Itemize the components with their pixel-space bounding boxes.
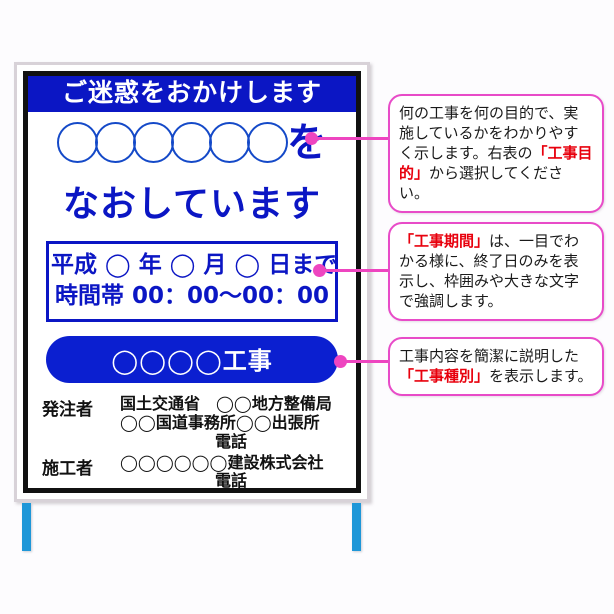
subject-circle xyxy=(95,122,136,163)
work-period-hours: 時間帯 00：00〜00：00 xyxy=(51,281,333,311)
party-value-line: ◯◯◯◯◯◯建設株式会社 xyxy=(120,454,342,473)
callout-text-segment: を表示します。 xyxy=(489,367,593,385)
construction-signboard: ご迷惑をおかけします を なおしています 平成 ◯ 年 ◯ 月 ◯ 日まで 時間… xyxy=(14,62,370,502)
party-values: ◯◯◯◯◯◯建設株式会社電話 xyxy=(120,454,342,492)
connector-line-worktype xyxy=(339,360,390,363)
connector-line-period xyxy=(318,269,390,272)
callout-work-type: 工事内容を簡潔に説明した「工事種別」を表示します。 xyxy=(388,337,604,396)
work-period-end-date: 平成 ◯ 年 ◯ 月 ◯ 日まで xyxy=(51,250,333,280)
sign-header-banner: ご迷惑をおかけします xyxy=(28,76,356,112)
party-row: 発注者国土交通省 ◯◯地方整備局◯◯国道事務所◯◯出張所電話 xyxy=(42,395,342,452)
subject-circle xyxy=(247,122,288,163)
callout-work-period-text: 「工事期間」は、一目でわかる様に、終了日のみを表示し、枠囲みや大きな文字で強調し… xyxy=(399,231,593,311)
party-label: 施工者 xyxy=(42,454,120,479)
callout-work-purpose-text: 何の工事を何の目的で、実施しているかをわかりやすく示します。右表の「工事目的」か… xyxy=(399,103,593,203)
subject-circle xyxy=(57,122,98,163)
party-label: 発注者 xyxy=(42,395,120,420)
party-value-line: ◯◯国道事務所◯◯出張所 xyxy=(120,414,342,433)
party-value-line: 国土交通省 ◯◯地方整備局 xyxy=(120,395,342,414)
work-type-pill: ◯◯◯◯工事 xyxy=(46,336,338,383)
action-text: なおしています xyxy=(28,175,356,227)
party-row: 施工者◯◯◯◯◯◯建設株式会社電話 xyxy=(42,454,342,492)
party-value-line: 電話 xyxy=(120,472,342,491)
callout-highlight-term: 「工事種別」 xyxy=(399,367,489,385)
parties-block: 発注者国土交通省 ◯◯地方整備局◯◯国道事務所◯◯出張所電話施工者◯◯◯◯◯◯建… xyxy=(42,395,342,493)
sign-leg-right xyxy=(352,503,361,551)
subject-circle xyxy=(209,122,250,163)
callout-work-period: 「工事期間」は、一目でわかる様に、終了日のみを表示し、枠囲みや大きな文字で強調し… xyxy=(388,222,604,321)
subject-circle xyxy=(133,122,174,163)
callout-text-segment: 工事内容を簡潔に説明した xyxy=(399,347,579,365)
callout-work-purpose: 何の工事を何の目的で、実施しているかをわかりやすく示します。右表の「工事目的」か… xyxy=(388,94,604,213)
party-value-line: 電話 xyxy=(120,433,342,452)
callout-work-type-text: 工事内容を簡潔に説明した「工事種別」を表示します。 xyxy=(399,346,593,386)
connector-line-purpose xyxy=(310,137,390,140)
sign-leg-left xyxy=(22,503,31,551)
work-period-box: 平成 ◯ 年 ◯ 月 ◯ 日まで 時間帯 00：00〜00：00 xyxy=(46,241,338,322)
party-values: 国土交通省 ◯◯地方整備局◯◯国道事務所◯◯出張所電話 xyxy=(120,395,342,452)
callout-highlight-term: 「工事期間」 xyxy=(399,232,489,250)
sign-outer-frame: ご迷惑をおかけします を なおしています 平成 ◯ 年 ◯ 月 ◯ 日まで 時間… xyxy=(14,62,370,502)
work-type-label: ◯◯◯◯工事 xyxy=(111,347,272,375)
subject-circle xyxy=(171,122,212,163)
